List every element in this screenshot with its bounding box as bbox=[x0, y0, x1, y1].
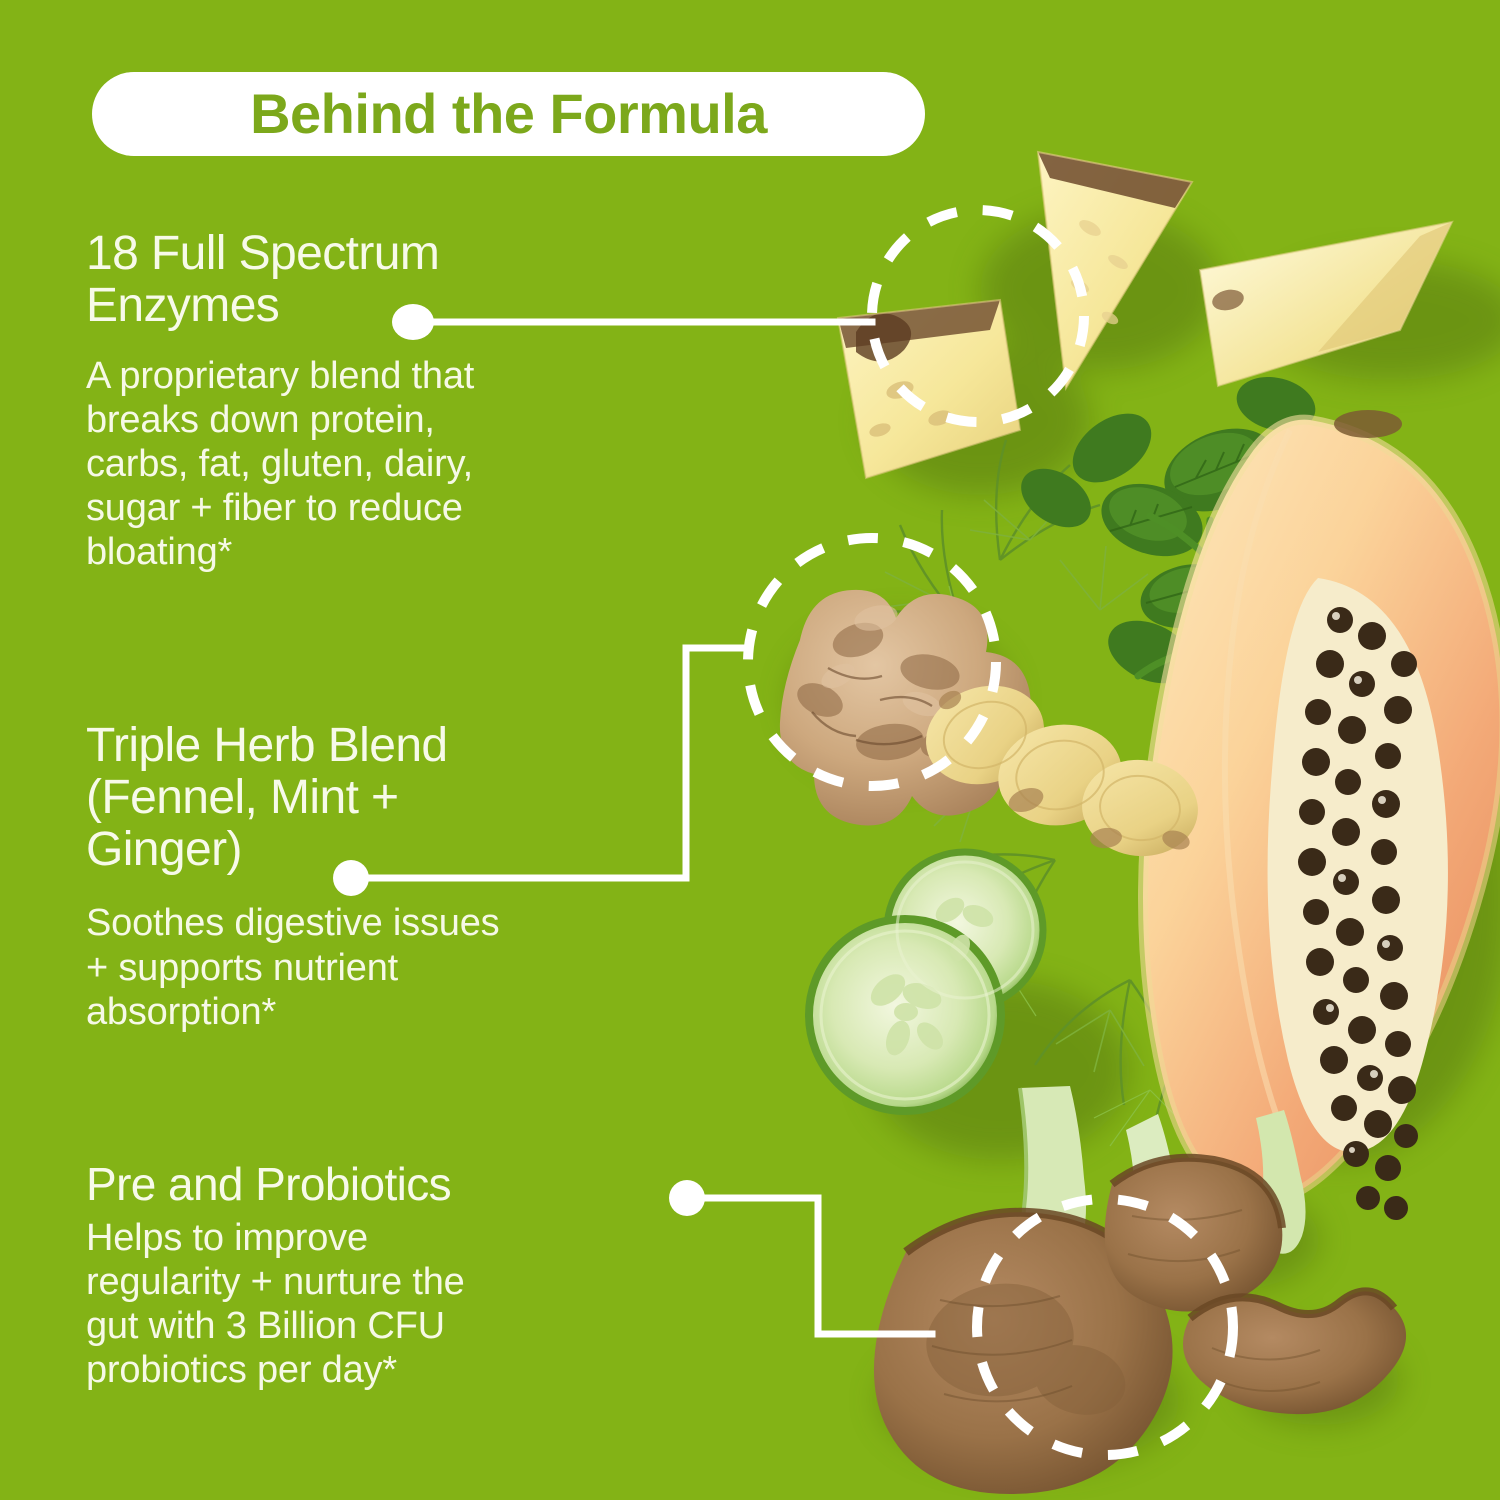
feature-block-herbs: Triple Herb Blend (Fennel, Mint + Ginger… bbox=[86, 720, 686, 1034]
page-title: Behind the Formula bbox=[250, 86, 767, 142]
feature-heading-herbs: Triple Herb Blend (Fennel, Mint + Ginger… bbox=[86, 720, 686, 875]
cucumber-slices bbox=[809, 852, 1043, 1111]
mint-leaves bbox=[1011, 369, 1337, 716]
dashed-circle-roots bbox=[977, 1199, 1233, 1455]
dried-root-slice-small bbox=[1105, 1158, 1283, 1312]
dried-root-slices bbox=[874, 1158, 1406, 1494]
feature-block-enzymes: 18 Full Spectrum Enzymes A proprietary b… bbox=[86, 228, 666, 574]
page-title-pill: Behind the Formula bbox=[92, 72, 925, 156]
cucumber-seed-pattern bbox=[865, 893, 997, 1059]
feature-body-herbs: Soothes digestive issues + supports nutr… bbox=[86, 901, 686, 1033]
feature-heading-probiotics: Pre and Probiotics bbox=[86, 1160, 686, 1210]
ginger-root bbox=[780, 590, 1031, 826]
fennel-stalk bbox=[1020, 1086, 1306, 1274]
dried-root-slice-curl bbox=[1183, 1291, 1406, 1414]
feature-body-enzymes: A proprietary blend that breaks down pro… bbox=[86, 354, 666, 574]
dashed-circle-pineapple bbox=[872, 210, 1084, 422]
papaya-seeds bbox=[1298, 607, 1418, 1220]
dashed-circle-ginger bbox=[748, 538, 996, 786]
dried-root-slice-large bbox=[874, 1212, 1173, 1494]
ginger-slices bbox=[913, 671, 1203, 862]
pineapple-wedge-upper bbox=[1038, 152, 1192, 388]
leader-line-probiotics bbox=[688, 1198, 932, 1334]
fennel-fronds bbox=[840, 440, 1245, 1190]
papaya-half bbox=[1143, 410, 1500, 1220]
pineapple-wedge-right bbox=[1200, 222, 1452, 386]
pineapple-chunk-left bbox=[838, 300, 1020, 478]
feature-heading-enzymes: 18 Full Spectrum Enzymes bbox=[86, 228, 666, 332]
feature-block-probiotics: Pre and Probiotics Helps to improve regu… bbox=[86, 1160, 686, 1392]
collage-shadows bbox=[790, 210, 1500, 1470]
feature-body-probiotics: Helps to improve regularity + nurture th… bbox=[86, 1216, 686, 1392]
infographic-canvas: Behind the Formula 18 Full Spectrum Enzy… bbox=[0, 0, 1500, 1500]
